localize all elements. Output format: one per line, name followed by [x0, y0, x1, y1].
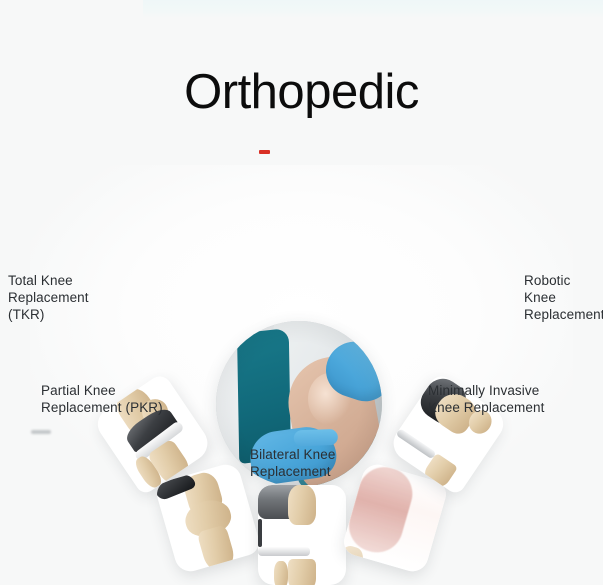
red-accent-mark [259, 150, 270, 154]
label-minimally-invasive: Minimally Invasive Knee Replacement [428, 382, 544, 416]
tibia-shape [197, 524, 237, 573]
faint-watermark-smudge [31, 430, 51, 434]
fibula-shape [274, 561, 288, 585]
label-robotic: Robotic Knee Replacement [524, 272, 603, 323]
petal-card-bilateral[interactable] [258, 485, 346, 585]
tibia-shape [288, 559, 316, 585]
label-tkr: Total Knee Replacement (TKR) [8, 272, 89, 323]
tibial-insert-shape [396, 428, 437, 459]
femur-shape [288, 485, 316, 525]
page-title: Orthopedic [0, 68, 603, 117]
top-accent-band [143, 0, 603, 18]
radial-petal-diagram [0, 155, 603, 539]
knee-implant-bilateral-icon [258, 485, 346, 585]
tibial-tray-shape [258, 547, 310, 556]
label-bilateral: Bilateral Knee Replacement [250, 446, 335, 480]
label-pkr: Partial Knee Replacement (PKR) [41, 382, 163, 416]
implant-groove [258, 519, 262, 547]
